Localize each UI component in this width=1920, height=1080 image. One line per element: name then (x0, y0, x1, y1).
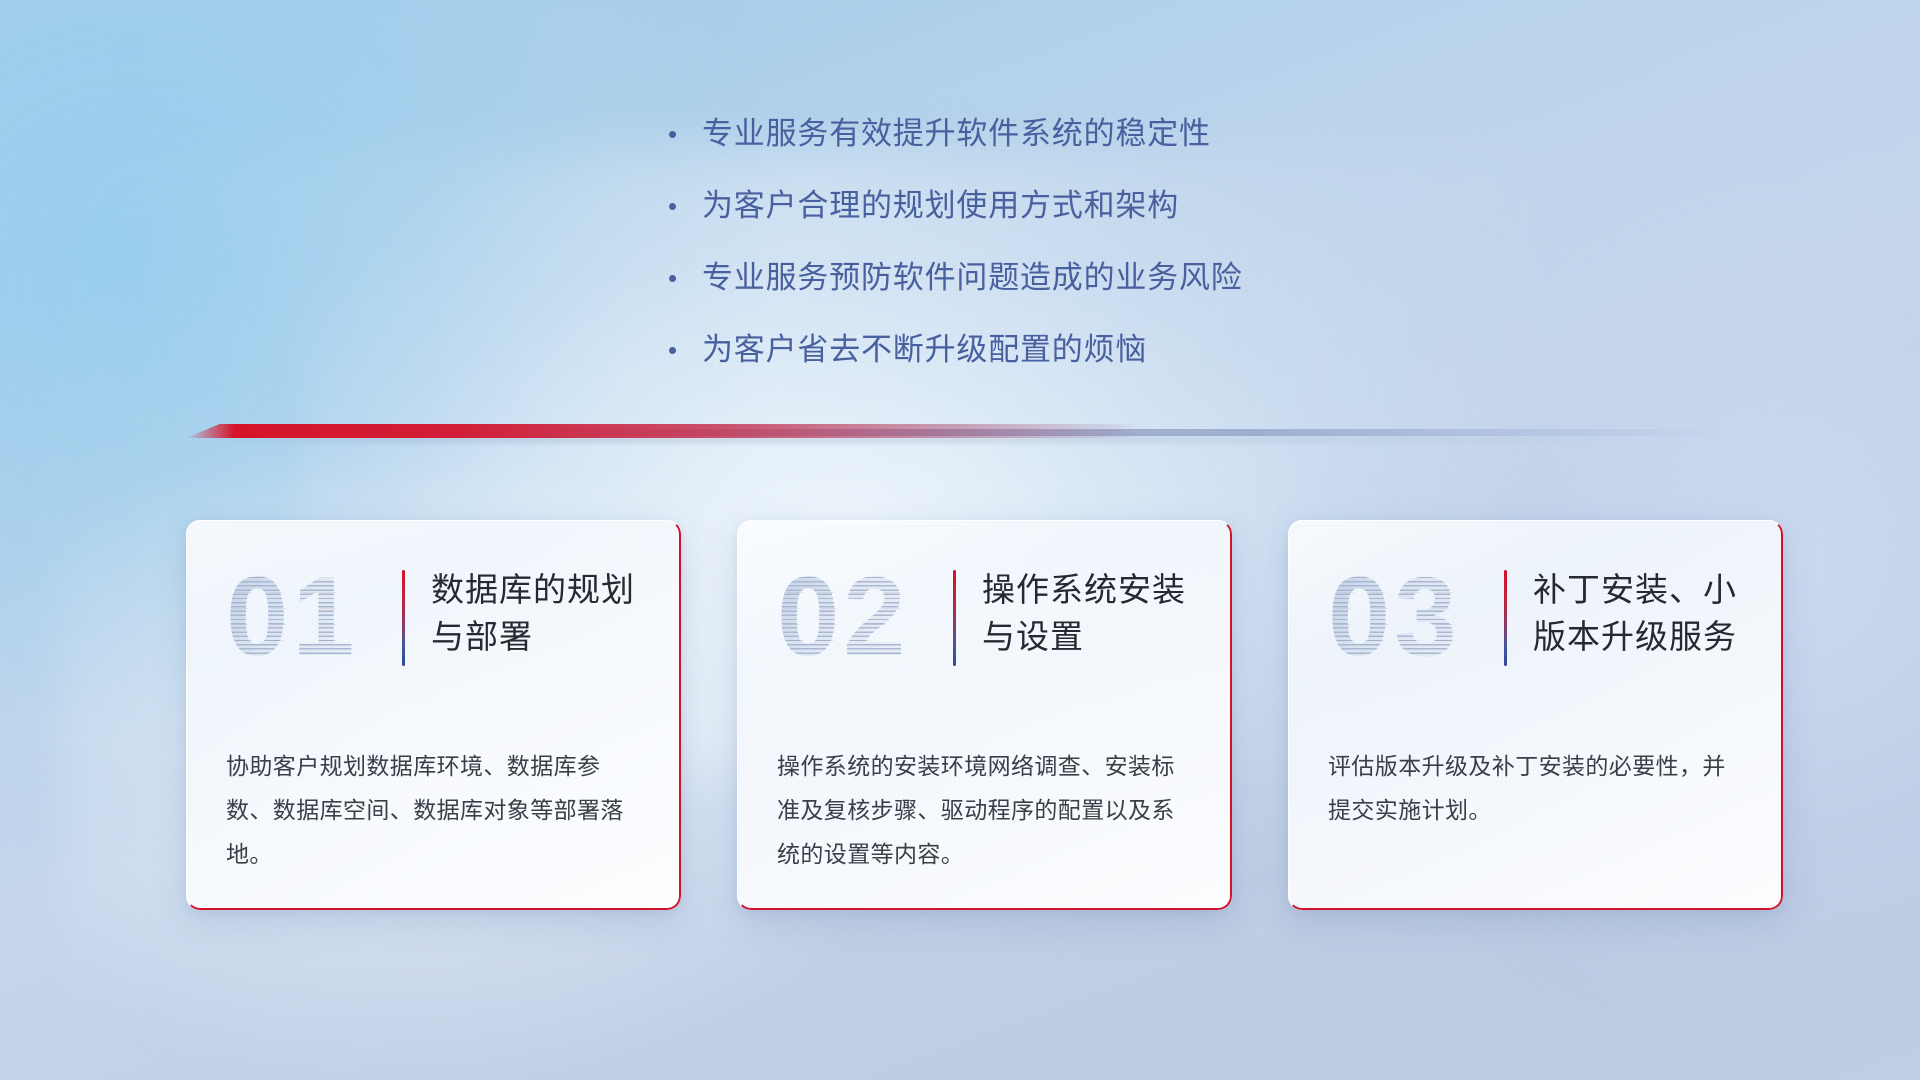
card-title: 操作系统安装与设置 (956, 566, 1192, 660)
bullet-item-text: 专业服务有效提升软件系统的稳定性 (702, 112, 1211, 156)
bullet-dot-icon: • (668, 184, 702, 228)
card-body-text: 评估版本升级及补丁安装的必要性，并提交实施计划。 (1328, 744, 1743, 832)
card-number-watermark: 03 03 (1328, 560, 1504, 678)
card-number-text: 03 (1328, 560, 1461, 674)
list-item: • 为客户合理的规划使用方式和架构 (668, 184, 1488, 228)
bullet-item-text: 为客户省去不断升级配置的烦恼 (702, 328, 1147, 372)
card-number-text: 02 (777, 560, 910, 674)
list-item: • 为客户省去不断升级配置的烦恼 (668, 328, 1488, 372)
card-header: 02 02 操作系统安装与设置 (777, 566, 1192, 686)
card-header: 01 01 数据库的规划与部署 (226, 566, 641, 686)
section-divider (186, 424, 1724, 446)
service-card-03[interactable]: 03 03 补丁安装、小版本升级服务 评估版本升级及补丁安装的必要性，并提交实施… (1288, 520, 1783, 910)
service-card-01[interactable]: 01 01 数据库的规划与部署 协助客户规划数据库环境、数据库参数、数据库空间、… (186, 520, 681, 910)
card-title: 数据库的规划与部署 (405, 566, 641, 660)
card-number-watermark: 02 02 (777, 560, 953, 678)
card-body-text: 操作系统的安装环境网络调查、安装标准及复核步骤、驱动程序的配置以及系统的设置等内… (777, 744, 1192, 876)
bullet-dot-icon: • (668, 256, 702, 300)
bullet-item-text: 专业服务预防软件问题造成的业务风险 (702, 256, 1243, 300)
list-item: • 专业服务预防软件问题造成的业务风险 (668, 256, 1488, 300)
bullet-item-text: 为客户合理的规划使用方式和架构 (702, 184, 1179, 228)
bullet-dot-icon: • (668, 328, 702, 372)
bullet-dot-icon: • (668, 112, 702, 156)
list-item: • 专业服务有效提升软件系统的稳定性 (668, 112, 1488, 156)
card-number-text: 01 (226, 560, 359, 674)
divider-red-wedge (186, 424, 1146, 438)
service-card-02[interactable]: 02 02 操作系统安装与设置 操作系统的安装环境网络调查、安装标准及复核步骤、… (737, 520, 1232, 910)
service-card-deck: 01 01 数据库的规划与部署 协助客户规划数据库环境、数据库参数、数据库空间、… (186, 520, 1783, 910)
card-title: 补丁安装、小版本升级服务 (1507, 566, 1743, 660)
card-body-text: 协助客户规划数据库环境、数据库参数、数据库空间、数据库对象等部署落地。 (226, 744, 641, 876)
card-number-watermark: 01 01 (226, 560, 402, 678)
card-header: 03 03 补丁安装、小版本升级服务 (1328, 566, 1743, 686)
benefits-bullet-list: • 专业服务有效提升软件系统的稳定性 • 为客户合理的规划使用方式和架构 • 专… (668, 112, 1488, 400)
